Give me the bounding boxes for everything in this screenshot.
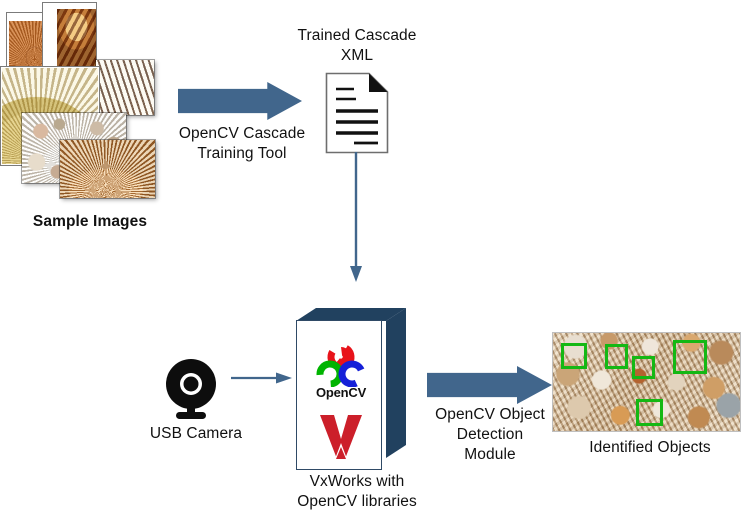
xml-document-icon bbox=[325, 72, 389, 154]
detection-box bbox=[673, 340, 707, 374]
sample-photo-striped-shells bbox=[96, 60, 154, 115]
sample-images-group bbox=[0, 0, 175, 200]
identified-objects-image bbox=[553, 333, 740, 431]
detection-box bbox=[636, 399, 663, 426]
opencv-logo: OpenCV bbox=[311, 343, 371, 400]
sample-photo-ribbed-shell-on-granite bbox=[60, 140, 155, 198]
camera-to-box-arrow bbox=[231, 370, 293, 386]
detection-module-arrow bbox=[427, 366, 552, 404]
trained-cascade-xml-label: Trained Cascade XML bbox=[282, 26, 432, 66]
sample-images-label: Sample Images bbox=[10, 212, 170, 232]
vxworks-software-box: OpenCV bbox=[296, 308, 408, 473]
detection-box bbox=[632, 356, 655, 379]
photo-texture bbox=[57, 9, 96, 69]
diagram-canvas: Sample Images OpenCV Cascade Training To… bbox=[0, 0, 750, 526]
box-side-bevel bbox=[381, 308, 406, 458]
vxworks-logo bbox=[319, 413, 363, 461]
usb-camera-label: USB Camera bbox=[141, 424, 251, 444]
detection-box bbox=[605, 344, 628, 369]
training-tool-arrow bbox=[178, 82, 302, 120]
vxworks-box-label: VxWorks with OpenCV libraries bbox=[277, 472, 437, 512]
training-tool-label: OpenCV Cascade Training Tool bbox=[168, 124, 316, 164]
opencv-logo-text: OpenCV bbox=[311, 385, 371, 400]
box-front-face: OpenCV bbox=[296, 320, 382, 470]
xml-to-box-arrow bbox=[347, 152, 365, 284]
usb-camera-icon bbox=[160, 358, 222, 420]
sample-photo-orange-spotted-shell bbox=[42, 2, 97, 70]
identified-objects-label: Identified Objects bbox=[565, 438, 735, 458]
detection-box bbox=[561, 343, 587, 369]
detection-module-label: OpenCV Object Detection Module bbox=[420, 405, 560, 465]
